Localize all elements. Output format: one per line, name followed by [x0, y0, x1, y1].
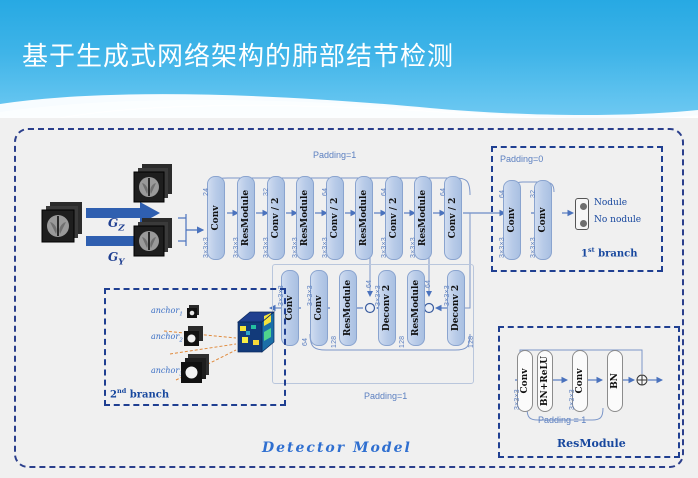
- block-conv-5-channels: 64: [440, 188, 447, 196]
- block-b1-conv-2-channels: 32: [530, 190, 537, 198]
- block-conv-2-channels: 32: [263, 188, 270, 196]
- block-resmodule-2-label: ResModule: [300, 190, 310, 246]
- block-resmodule-3-label: ResModule: [359, 190, 369, 246]
- block-conv-1-label: Conv: [211, 206, 221, 231]
- block-conv-4-channels: 64: [381, 188, 388, 196]
- generator-label-gy: GY: [108, 250, 124, 267]
- generated-volume-z-cube: [128, 162, 182, 214]
- classification-output-box[interactable]: [575, 198, 589, 230]
- block-rm-conv-1-kernel: 3×3×3: [514, 389, 521, 410]
- block-rm-bn[interactable]: BN: [607, 350, 623, 412]
- block-b1-conv-1-channels: 64: [499, 190, 506, 198]
- generated-volume-y-cube: [128, 216, 182, 268]
- input-volume-cube: [36, 196, 92, 258]
- slide-header: 基于生成式网络架构的肺部结节检测: [0, 0, 698, 118]
- block-resmodule-3[interactable]: ResModule: [355, 176, 373, 260]
- page-title: 基于生成式网络架构的肺部结节检测: [22, 36, 454, 73]
- resmodule-detail-title: ResModule: [557, 437, 626, 450]
- anchor-1-cube: [186, 304, 202, 320]
- block-resmodule-1-kernel: 3×3×3: [233, 237, 240, 258]
- block-conv-4-kernel: 3×3×3: [381, 237, 388, 258]
- block-rm-bnrelu[interactable]: BN+ReLU: [537, 350, 553, 412]
- block-conv-4-label: Conv / 2: [389, 198, 399, 239]
- output-label-no-nodule: No nodule: [594, 215, 641, 225]
- block-conv-2-label: Conv / 2: [271, 198, 281, 239]
- branch1-padding-label: Padding=0: [500, 154, 543, 164]
- block-conv-3-kernel: 3×3×3: [322, 237, 329, 258]
- block-rm-bn-label: BN: [610, 373, 620, 389]
- block-conv-3-label: Conv / 2: [330, 198, 340, 239]
- anchor-1-label: anchor1: [151, 306, 183, 318]
- output-label-nodule: Nodule: [594, 198, 627, 208]
- block-conv-1-kernel: 3×3×3: [203, 237, 210, 258]
- block-conv-1-channels: 24: [203, 188, 210, 196]
- anchor-3-cube: [180, 353, 214, 387]
- block-rm-conv-2-label: Conv: [575, 369, 585, 394]
- branch1-title: 1st branch: [581, 246, 638, 259]
- decoder-padding-label: Padding=1: [364, 391, 407, 401]
- generator-label-gz: GZ: [108, 216, 125, 233]
- block-resmodule-2-kernel: 3×3×3: [292, 237, 299, 258]
- resmodule-padding-label: Padding = 1: [538, 415, 586, 425]
- block-rm-bnrelu-label: BN+ReLU: [540, 356, 550, 406]
- encoder-padding-label: Padding=1: [313, 150, 356, 160]
- block-rm-conv-2-kernel: 3×3×3: [569, 389, 576, 410]
- decoder-group-box: [272, 264, 474, 384]
- block-rm-conv-1-label: Conv: [520, 369, 530, 394]
- block-conv-3-channels: 64: [322, 188, 329, 196]
- nodule-dot-positive: [580, 203, 587, 210]
- block-resmodule-4-label: ResModule: [418, 190, 428, 246]
- block-b1-conv-1-kernel: 3×3×3: [499, 237, 506, 258]
- anchor-3-label: anchor3: [151, 366, 183, 378]
- feature-volume-heatmap: [234, 310, 276, 358]
- nodule-dot-negative: [580, 220, 587, 227]
- block-conv-2-kernel: 3×3×3: [263, 237, 270, 258]
- block-resmodule-1-label: ResModule: [241, 190, 251, 246]
- block-resmodule-4-kernel: 3×3×3: [410, 237, 417, 258]
- block-b1-conv-2-kernel: 3×3×3: [530, 237, 537, 258]
- block-b1-conv-1-label: Conv: [507, 208, 517, 233]
- block-conv-5-label: Conv / 2: [448, 198, 458, 239]
- branch2-title: 2nd branch: [110, 387, 169, 400]
- block-b1-conv-2-label: Conv: [538, 208, 548, 233]
- diagram-canvas: GZ GY Padding=1 Conv 24 3×3×3 ResModule …: [0, 118, 698, 478]
- anchor-2-cube: [183, 325, 207, 349]
- detector-model-title: Detector Model: [262, 440, 412, 456]
- anchor-2-label: anchor2: [151, 332, 183, 344]
